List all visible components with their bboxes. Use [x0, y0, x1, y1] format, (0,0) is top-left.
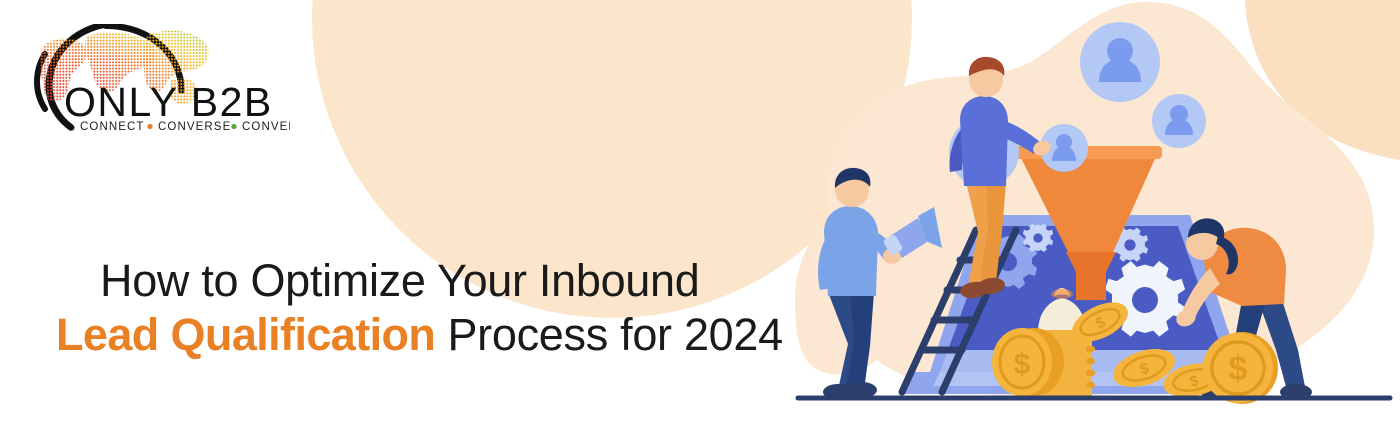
tagline-dot-green — [231, 124, 236, 129]
svg-text:$: $ — [1229, 350, 1248, 388]
svg-text:$: $ — [1014, 348, 1031, 381]
marketing-banner: ONLY B2B CONNECT CONVERSE CONVERT How to… — [0, 0, 1400, 430]
lead-qualification-funnel-illustration: $ $ $ $ — [790, 0, 1400, 430]
logo-wordmark: ONLY B2B — [64, 79, 273, 125]
avatar-bubble-2 — [1152, 94, 1206, 148]
coin-rolled-by-woman: $ — [1203, 332, 1278, 404]
svg-text:CONNECT: CONNECT — [80, 121, 145, 133]
person-with-megaphone — [818, 168, 942, 400]
headline-block: How to Optimize Your Inbound Lead Qualif… — [56, 258, 816, 359]
headline-line-1: How to Optimize Your Inbound — [56, 258, 816, 304]
headline-line-2: Lead Qualification Process for 2024 — [56, 312, 816, 358]
svg-text:CONVERSE: CONVERSE — [158, 121, 231, 133]
tagline-dot-orange — [147, 124, 152, 129]
headline-rest: Process for 2024 — [435, 309, 783, 360]
logo-tagline: CONNECT CONVERSE CONVERT — [80, 121, 290, 133]
avatar-bubble-1 — [1080, 22, 1160, 102]
headline-highlight: Lead Qualification — [56, 309, 435, 360]
megaphone-icon — [882, 207, 942, 258]
brand-logo[interactable]: ONLY B2B CONNECT CONVERSE CONVERT — [22, 24, 290, 134]
svg-text:CONVERT: CONVERT — [242, 121, 290, 133]
